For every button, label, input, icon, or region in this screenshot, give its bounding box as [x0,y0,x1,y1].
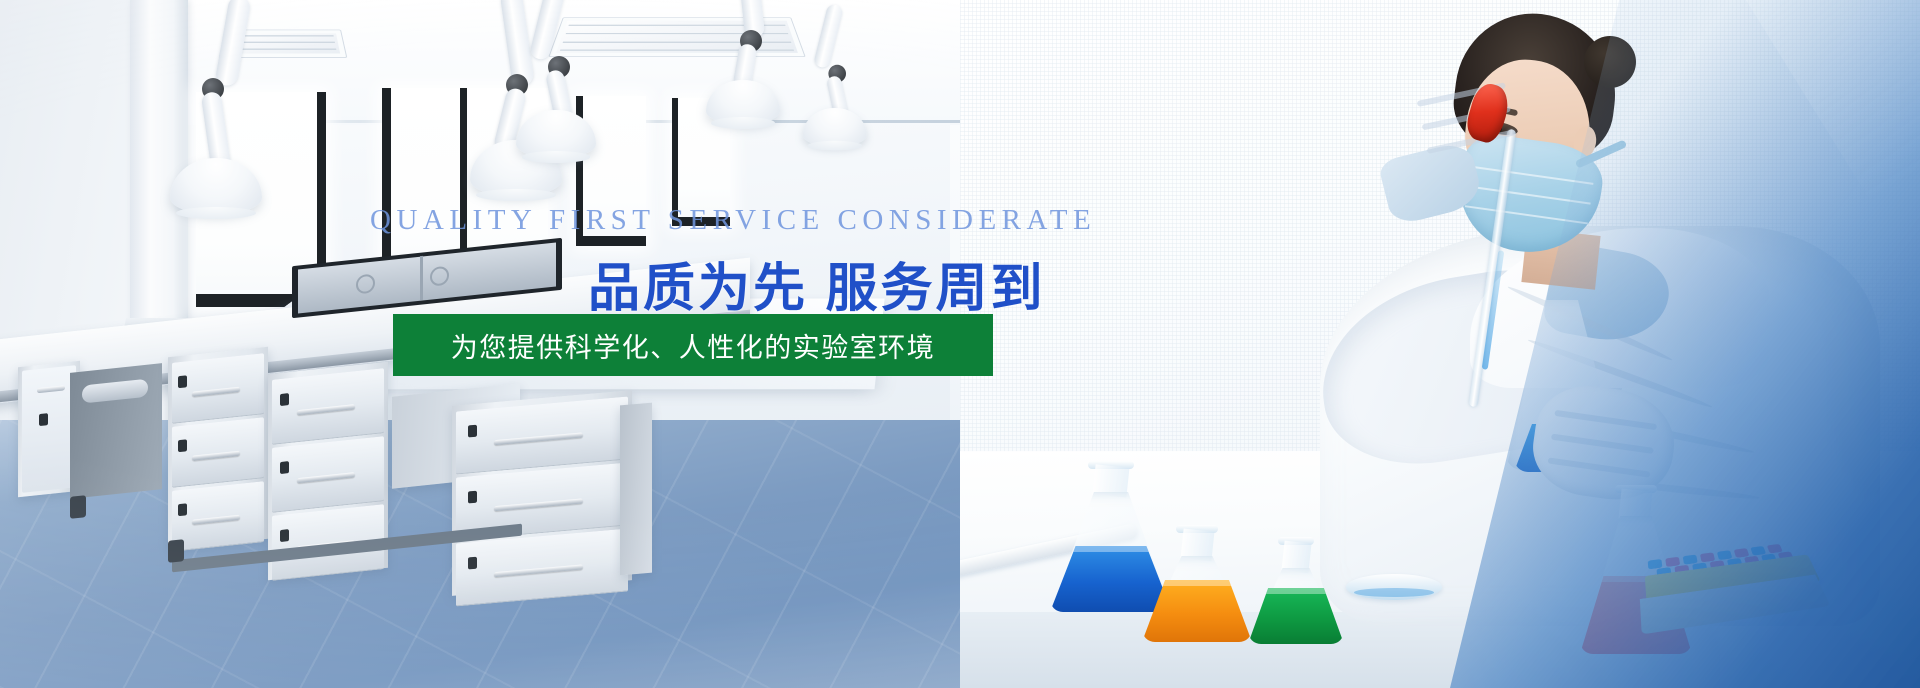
banner-subtitle-bar: 为您提供科学化、人性化的实验室环境 [393,314,993,376]
text-overlay: QUALITY FIRST SERVICE CONSIDERATE 品质为先 服… [0,0,1920,688]
banner-eyebrow-english: QUALITY FIRST SERVICE CONSIDERATE [370,204,1030,237]
banner-subtitle-text: 为您提供科学化、人性化的实验室环境 [451,326,936,365]
hero-banner: QUALITY FIRST SERVICE CONSIDERATE 品质为先 服… [0,0,1920,688]
banner-headline: 品质为先 服务周到 [588,246,1045,321]
